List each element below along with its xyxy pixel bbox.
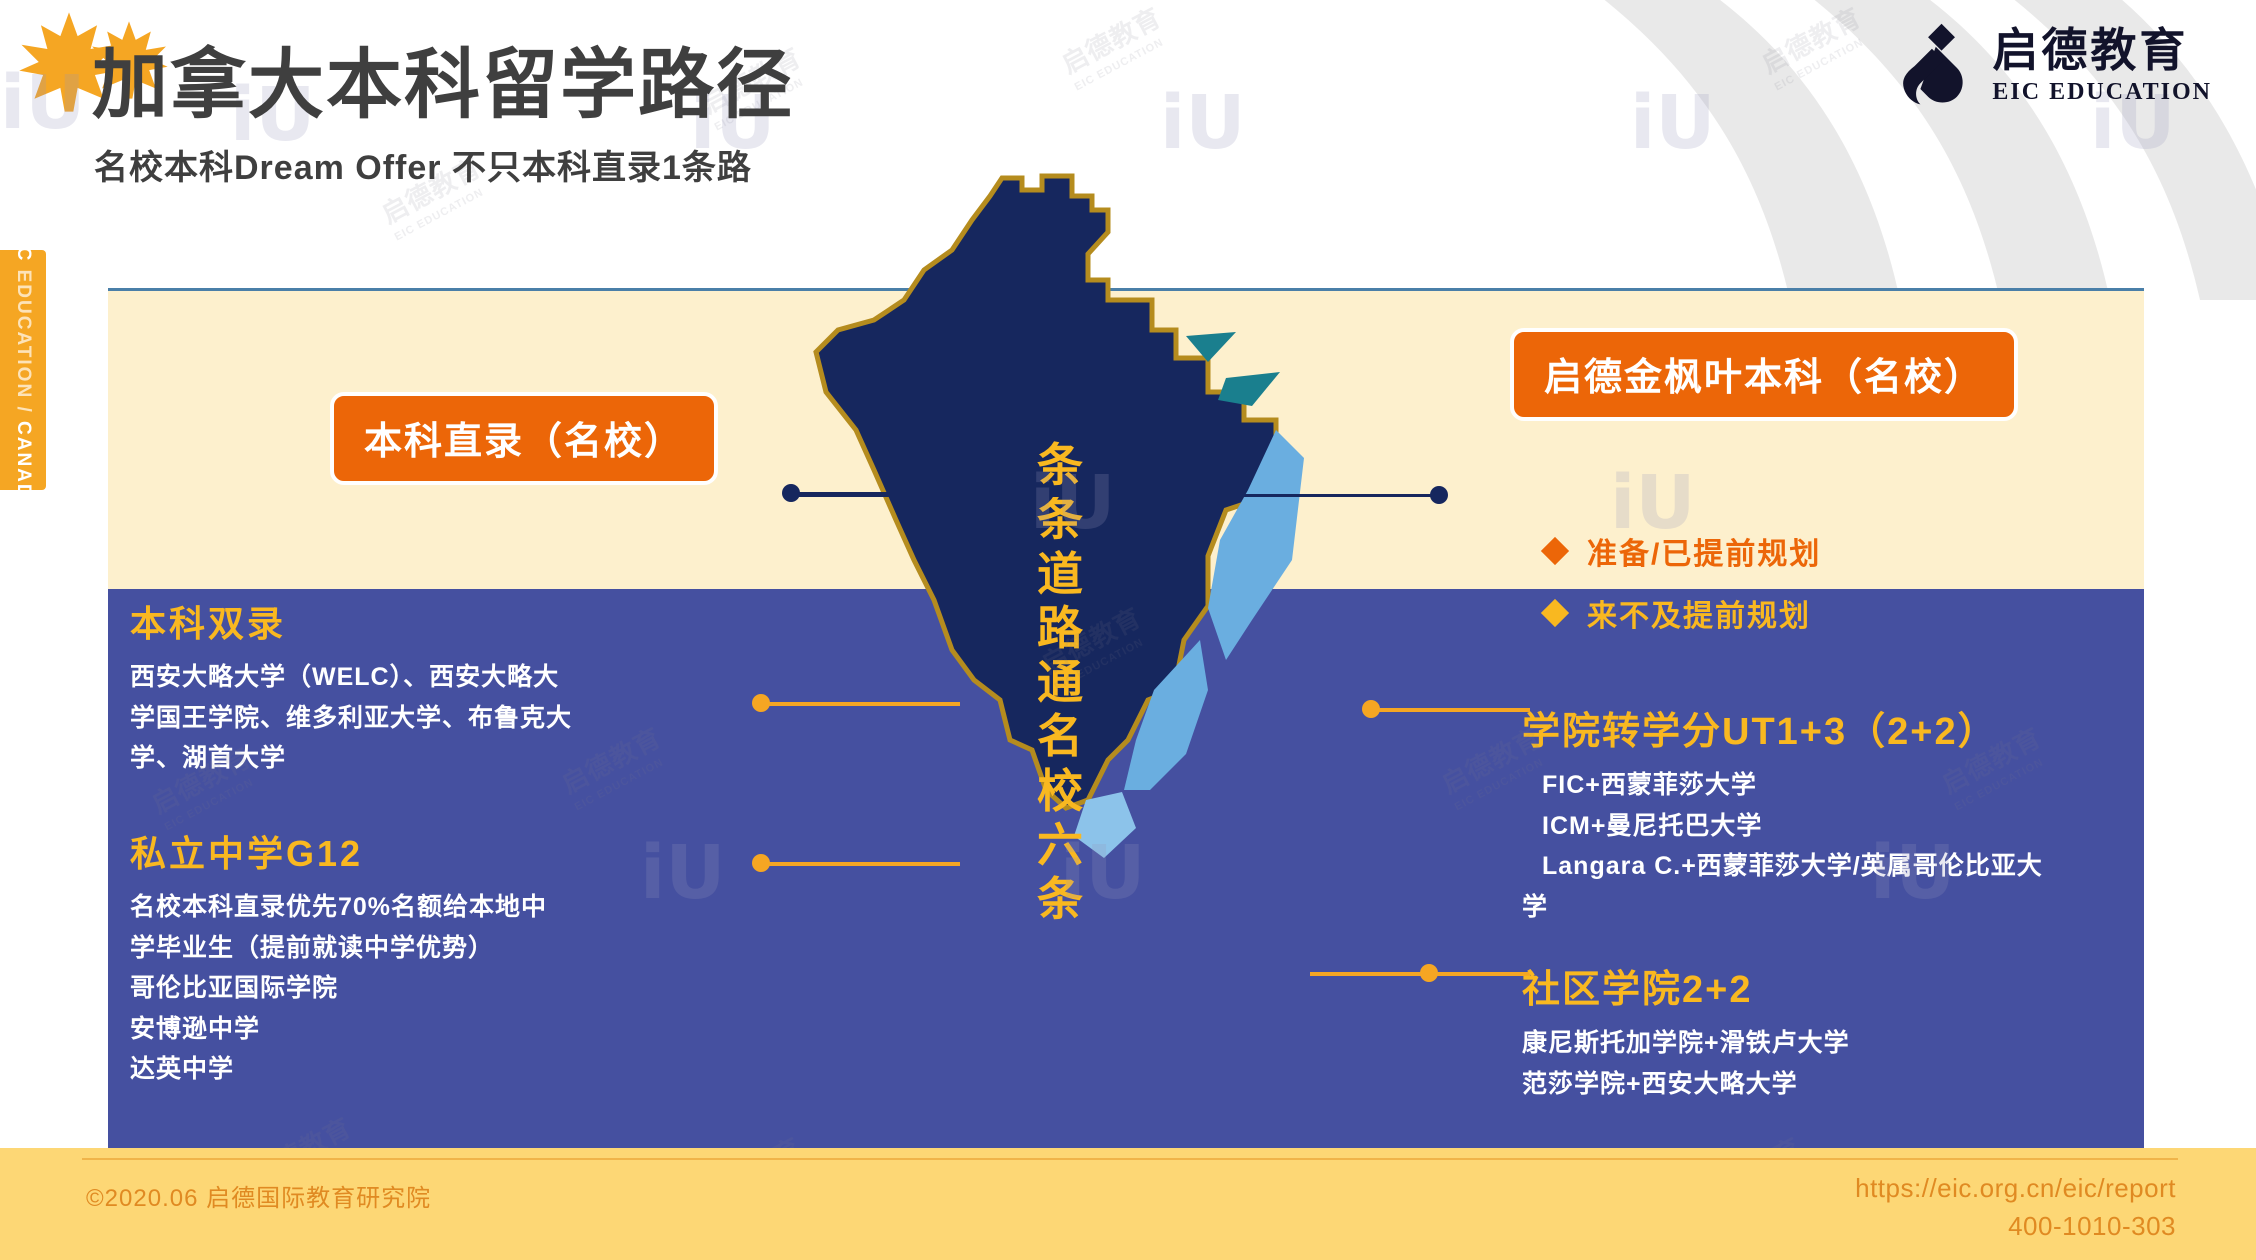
section-heading: 私立中学G12 <box>130 825 770 877</box>
side-tab-eic: EIC <box>13 225 34 263</box>
section-line: 范莎学院+西安大略大学 <box>1522 1064 2182 1105</box>
side-tab-label: EIC EDUCATION / CANADA <box>12 225 34 516</box>
side-tab-education: EDUCATION / <box>13 262 34 421</box>
right-section-college-transfer: 学院转学分UT1+3（2+2） FIC+西蒙菲莎大学 ICM+曼尼托巴大学 La… <box>1522 700 2182 927</box>
list-item: 准备/已提前规划 <box>1545 520 1821 582</box>
page-title: 加拿大本科留学路径 <box>92 48 794 124</box>
footer-copyright: ©2020.06 启德国际教育研究院 <box>86 1178 431 1213</box>
connector-dot-left-mid <box>752 694 770 712</box>
section-line: 名校本科直录优先70%名额给本地中 <box>130 887 770 928</box>
left-section-dual-admission: 本科双录 西安大略大学（WELC）、西安大略大 学国王学院、维多利亚大学、布鲁克… <box>130 595 750 779</box>
side-tab-canada-text: CANADA <box>13 421 34 515</box>
footer: ©2020.06 启德国际教育研究院 https://eic.org.cn/ei… <box>0 1148 2256 1260</box>
connector-line-left-low <box>760 862 960 866</box>
connector-line-right-mid <box>1370 708 1530 712</box>
section-line: 学、湖首大学 <box>130 738 750 779</box>
section-line: 学国王学院、维多利亚大学、布鲁克大 <box>130 698 750 739</box>
connector-dot-right-top <box>1430 486 1448 504</box>
footer-contact: https://eic.org.cn/eic/report 400-1010-3… <box>1855 1170 2176 1245</box>
section-line: ICM+曼尼托巴大学 <box>1542 806 2182 847</box>
connector-line-left-top <box>790 492 930 495</box>
bullet-label: 准备/已提前规划 <box>1587 529 1821 573</box>
list-item: 来不及提前规划 <box>1545 582 1821 644</box>
footer-divider <box>82 1158 2178 1160</box>
section-heading: 本科双录 <box>130 595 750 647</box>
section-heading: 社区学院2+2 <box>1522 958 2182 1013</box>
map-inlet-teal-2 <box>1218 372 1280 406</box>
section-line: 西安大略大学（WELC）、西安大略大 <box>130 657 750 698</box>
footer-phone: 400-1010-303 <box>1855 1208 2176 1246</box>
section-line: 安博逊中学 <box>130 1009 770 1050</box>
connector-dot-right-low <box>1420 964 1438 982</box>
section-line: 达英中学 <box>130 1049 770 1090</box>
section-line: FIC+西蒙菲莎大学 <box>1542 765 2182 806</box>
map-vertical-label: 条条道路通名校六条 <box>1020 438 1102 926</box>
diamond-bullet-icon <box>1541 599 1569 627</box>
badge-direct-admission[interactable]: 本科直录（名校） <box>330 392 718 485</box>
section-line: 哥伦比亚国际学院 <box>130 968 770 1009</box>
page-subtitle: 名校本科Dream Offer 不只本科直录1条路 <box>94 140 752 189</box>
diamond-bullet-icon <box>1541 537 1569 565</box>
logo-text-en: EIC EDUCATION <box>1992 79 2212 106</box>
footer-url[interactable]: https://eic.org.cn/eic/report <box>1855 1170 2176 1208</box>
section-line: 学 <box>1522 887 2182 928</box>
left-section-private-school: 私立中学G12 名校本科直录优先70%名额给本地中 学毕业生（提前就读中学优势）… <box>130 825 770 1090</box>
section-heading: 学院转学分UT1+3（2+2） <box>1522 700 2182 755</box>
section-line: 学毕业生（提前就读中学优势） <box>130 928 770 969</box>
logo-text-cn: 启德教育 <box>1992 27 2212 73</box>
connector-line-left-mid <box>760 702 960 706</box>
section-line: Langara C.+西蒙菲莎大学/英属哥伦比亚大 <box>1542 846 2182 887</box>
bullet-label: 来不及提前规划 <box>1587 591 1811 635</box>
slide-canvas: 启德教育EIC EDUCATION 启德教育EIC EDUCATION 启德教育… <box>0 0 2256 1260</box>
bullet-list: 准备/已提前规划 来不及提前规划 <box>1545 520 1821 644</box>
badge-golden-maple[interactable]: 启德金枫叶本科（名校） <box>1510 328 2018 421</box>
section-line: 康尼斯托加学院+滑铁卢大学 <box>1522 1023 2182 1064</box>
connector-dot-right-mid <box>1362 700 1380 718</box>
right-section-community-college: 社区学院2+2 康尼斯托加学院+滑铁卢大学 范莎学院+西安大略大学 <box>1522 958 2182 1104</box>
eic-logo: 启德教育 EIC EDUCATION <box>1882 18 2212 114</box>
connector-dot-left-top <box>782 484 800 502</box>
eic-logo-mark-icon <box>1882 18 1978 114</box>
side-tab-canada: EIC EDUCATION / CANADA <box>0 250 46 490</box>
